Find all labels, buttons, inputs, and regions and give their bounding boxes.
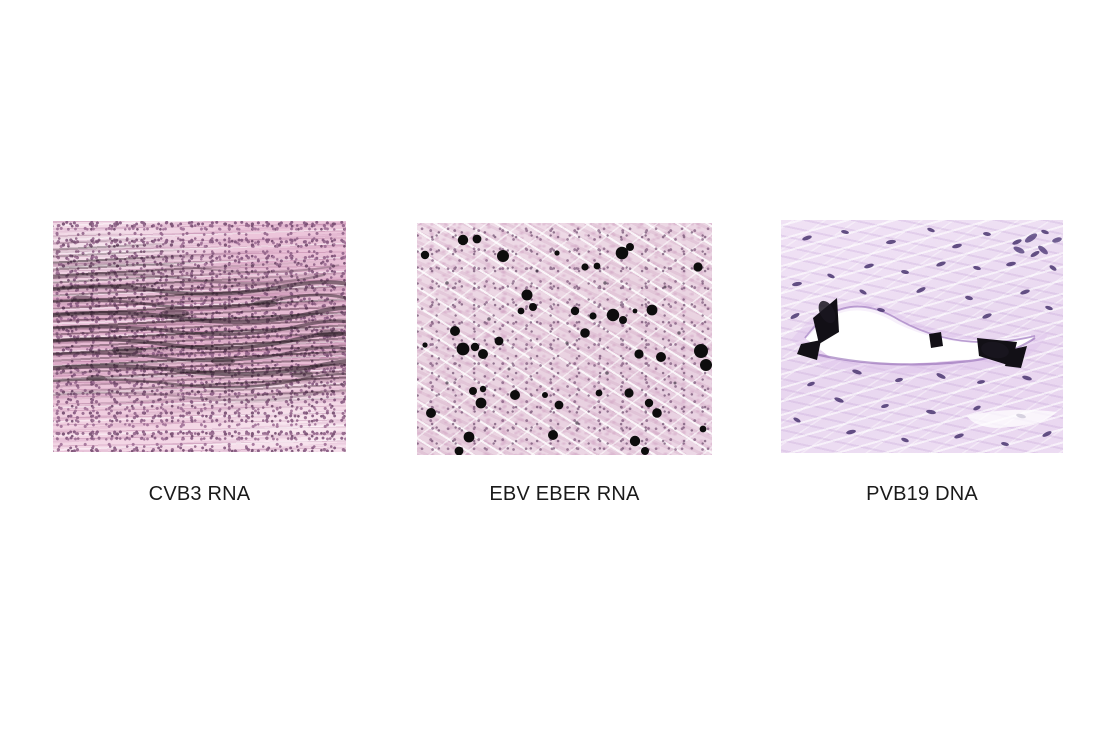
figure-root: CVB3 RNA [0,0,1118,739]
micrograph-image-pvb19 [781,220,1063,453]
micrograph-panel-pvb19[interactable] [781,220,1063,453]
micrograph-panel-cvb3[interactable] [53,221,346,452]
micrograph-image-cvb3 [53,221,346,452]
panel-caption-ebv: EBV EBER RNA [417,483,712,505]
panel-caption-pvb19: PVB19 DNA [781,483,1063,505]
micrograph-panel-ebv[interactable] [417,223,712,455]
panel-caption-cvb3: CVB3 RNA [53,483,346,505]
pvb19-positive-endothelium-svg [781,220,1063,453]
micrograph-image-ebv [417,223,712,455]
eber-positive-nuclei-svg [417,223,712,455]
ish-signal-streaks-svg [53,221,346,452]
